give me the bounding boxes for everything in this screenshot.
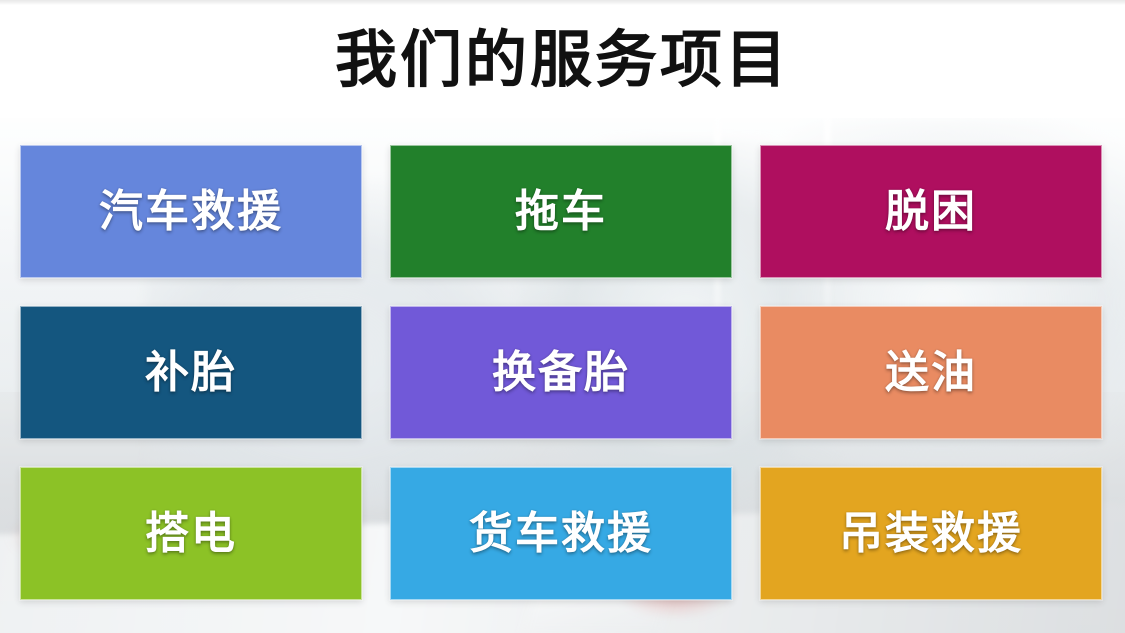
service-tile-label: 送油: [885, 348, 977, 398]
service-tile-huanbeitai[interactable]: 换备胎: [390, 306, 732, 439]
service-tile-label: 货车救援: [469, 509, 653, 559]
service-tile-diaozhuang-jiuyuan[interactable]: 吊装救援: [760, 467, 1102, 600]
top-edge-hairline: [0, 0, 1125, 5]
service-tile-huoche-jiuyuan[interactable]: 货车救援: [390, 467, 732, 600]
service-tile-label: 拖车: [515, 187, 607, 237]
service-tile-dadian[interactable]: 搭电: [20, 467, 362, 600]
service-tile-tuokun[interactable]: 脱困: [760, 145, 1102, 278]
service-tile-tuoche[interactable]: 拖车: [390, 145, 732, 278]
service-tile-label: 脱困: [885, 187, 977, 237]
service-tile-butai[interactable]: 补胎: [20, 306, 362, 439]
service-tile-label: 吊装救援: [839, 509, 1023, 559]
service-tile-label: 搭电: [145, 509, 237, 559]
service-poster: 我们的服务项目 汽车救援 拖车 脱困 补胎 换备胎 送油 搭电 货车救援 吊装救…: [0, 0, 1125, 633]
service-grid: 汽车救援 拖车 脱困 补胎 换备胎 送油 搭电 货车救援 吊装救援: [20, 145, 1102, 600]
service-tile-label: 换备胎: [492, 348, 630, 398]
service-tile-label: 汽车救援: [99, 187, 283, 237]
service-tile-songyou[interactable]: 送油: [760, 306, 1102, 439]
page-title: 我们的服务项目: [0, 24, 1125, 96]
service-tile-label: 补胎: [145, 348, 237, 398]
service-tile-qiche-jiuyuan[interactable]: 汽车救援: [20, 145, 362, 278]
